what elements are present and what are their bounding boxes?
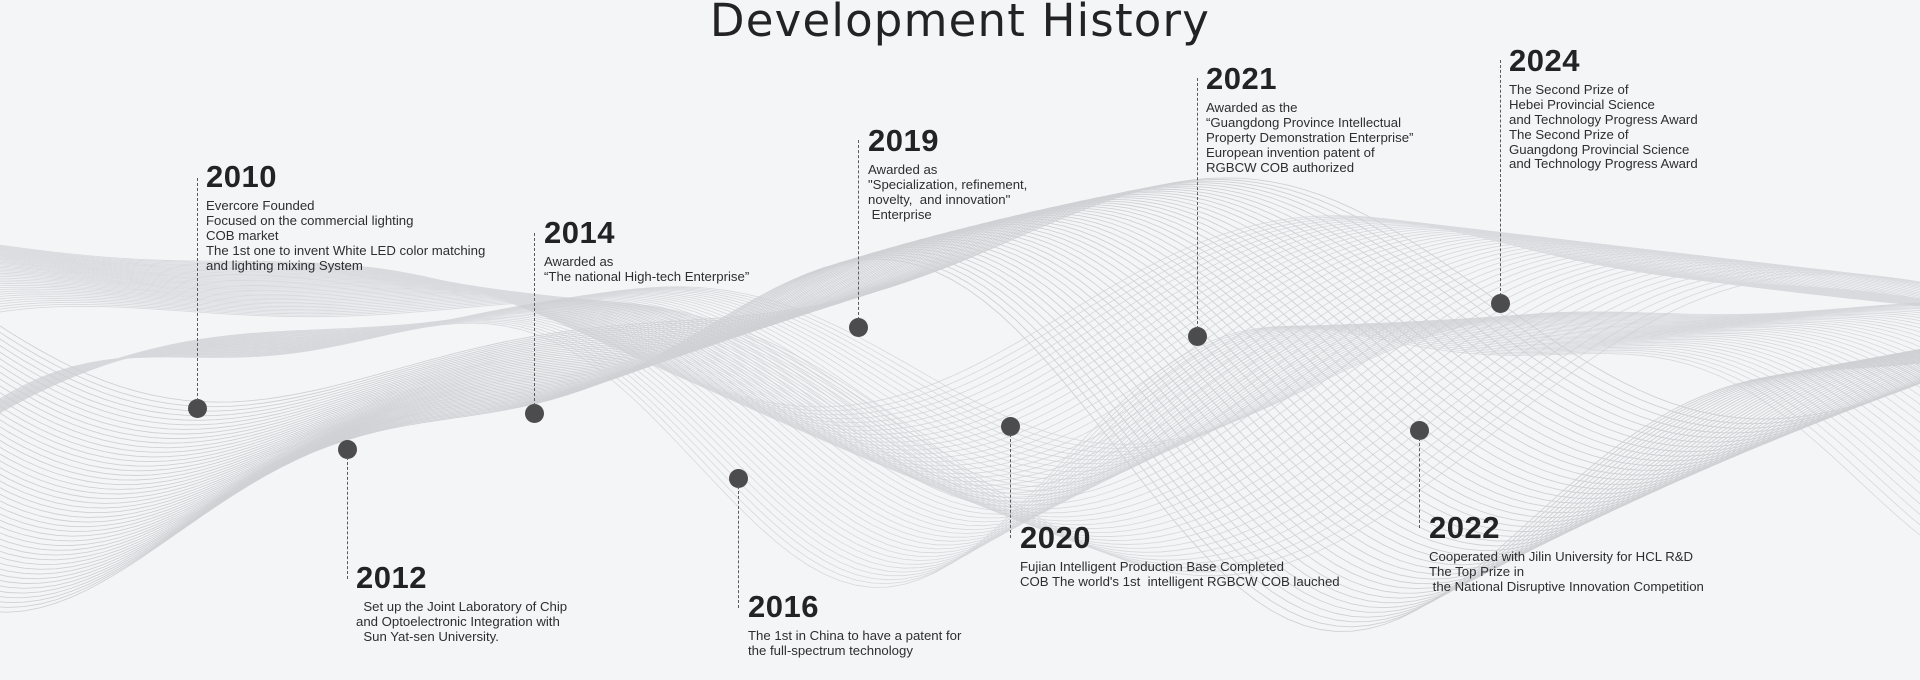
timeline-body-line: and lighting mixing System bbox=[206, 259, 485, 274]
timeline-infographic: Development History 2010 Evercore Founde… bbox=[0, 0, 1920, 680]
timeline-body-line: Enterprise bbox=[868, 208, 1027, 223]
timeline-year-2019: 2019 bbox=[868, 124, 1027, 157]
timeline-dot-2010[interactable] bbox=[188, 399, 207, 418]
timeline-body-line: RGBCW COB authorized bbox=[1206, 161, 1413, 176]
timeline-body-2021: Awarded as the“Guangdong Province Intell… bbox=[1206, 101, 1413, 175]
timeline-body-line: “The national High-tech Enterprise” bbox=[544, 270, 749, 285]
timeline-body-2016: The 1st in China to have a patent forthe… bbox=[748, 629, 961, 659]
timeline-year-2016: 2016 bbox=[748, 590, 961, 623]
timeline-body-line: Hebei Provincial Science bbox=[1509, 98, 1698, 113]
timeline-body-2014: Awarded as“The national High-tech Enterp… bbox=[544, 255, 749, 285]
timeline-body-line: European invention patent of bbox=[1206, 146, 1413, 161]
timeline-card-2019: 2019 Awarded as"Specialization, refineme… bbox=[868, 124, 1027, 223]
timeline-body-line: Cooperated with Jilin University for HCL… bbox=[1429, 550, 1704, 565]
timeline-body-line: The Top Prize in bbox=[1429, 565, 1704, 580]
timeline-card-2020: 2020 Fujian Intelligent Production Base … bbox=[1020, 521, 1340, 590]
timeline-stem-2014 bbox=[534, 233, 535, 406]
timeline-body-2024: The Second Prize ofHebei Provincial Scie… bbox=[1509, 83, 1698, 172]
timeline-year-2010: 2010 bbox=[206, 160, 485, 193]
timeline-body-line: "Specialization, refinement, bbox=[868, 178, 1027, 193]
timeline-body-line: COB The world's 1st intelligent RGBCW CO… bbox=[1020, 575, 1340, 590]
timeline-body-line: Sun Yat-sen University. bbox=[356, 630, 567, 645]
timeline-dot-2021[interactable] bbox=[1188, 327, 1207, 346]
timeline-card-2010: 2010 Evercore FoundedFocused on the comm… bbox=[206, 160, 485, 273]
timeline-stem-2020 bbox=[1010, 434, 1011, 538]
timeline-body-line: Fujian Intelligent Production Base Compl… bbox=[1020, 560, 1340, 575]
page-title: Development History bbox=[0, 0, 1920, 47]
timeline-body-line: the National Disruptive Innovation Compe… bbox=[1429, 580, 1704, 595]
timeline-year-2012: 2012 bbox=[356, 561, 567, 594]
timeline-card-2014: 2014 Awarded as“The national High-tech E… bbox=[544, 216, 749, 285]
timeline-year-2022: 2022 bbox=[1429, 511, 1704, 544]
timeline-body-2020: Fujian Intelligent Production Base Compl… bbox=[1020, 560, 1340, 590]
timeline-body-line: Guangdong Provincial Science bbox=[1509, 143, 1698, 158]
timeline-body-line: and Optoelectronic Integration with bbox=[356, 615, 567, 630]
timeline-stem-2021 bbox=[1197, 78, 1198, 329]
timeline-body-line: The 1st one to invent White LED color ma… bbox=[206, 244, 485, 259]
timeline-card-2022: 2022 Cooperated with Jilin University fo… bbox=[1429, 511, 1704, 595]
timeline-body-2010: Evercore FoundedFocused on the commercia… bbox=[206, 199, 485, 273]
timeline-body-line: The 1st in China to have a patent for bbox=[748, 629, 961, 644]
timeline-body-line: Awarded as the bbox=[1206, 101, 1413, 116]
timeline-body-line: COB market bbox=[206, 229, 485, 244]
timeline-dot-2014[interactable] bbox=[525, 404, 544, 423]
timeline-year-2020: 2020 bbox=[1020, 521, 1340, 554]
timeline-year-2014: 2014 bbox=[544, 216, 749, 249]
timeline-dot-2024[interactable] bbox=[1491, 294, 1510, 313]
timeline-body-line: and Technology Progress Award bbox=[1509, 157, 1698, 172]
timeline-card-2024: 2024 The Second Prize ofHebei Provincial… bbox=[1509, 44, 1698, 172]
timeline-body-line: “Guangdong Province Intellectual bbox=[1206, 116, 1413, 131]
timeline-dot-2019[interactable] bbox=[849, 318, 868, 337]
timeline-year-2024: 2024 bbox=[1509, 44, 1698, 77]
timeline-stem-2019 bbox=[858, 140, 859, 320]
timeline-body-line: Focused on the commercial lighting bbox=[206, 214, 485, 229]
timeline-card-2021: 2021 Awarded as the“Guangdong Province I… bbox=[1206, 62, 1413, 175]
timeline-card-2016: 2016 The 1st in China to have a patent f… bbox=[748, 590, 961, 659]
timeline-body-2012: Set up the Joint Laboratory of Chipand O… bbox=[356, 600, 567, 644]
timeline-body-line: Evercore Founded bbox=[206, 199, 485, 214]
timeline-body-line: and Technology Progress Award bbox=[1509, 113, 1698, 128]
timeline-stem-2016 bbox=[738, 486, 739, 608]
timeline-body-line: Awarded as bbox=[544, 255, 749, 270]
timeline-stem-2024 bbox=[1500, 60, 1501, 296]
timeline-card-2012: 2012 Set up the Joint Laboratory of Chip… bbox=[356, 561, 567, 645]
timeline-body-line: the full-spectrum technology bbox=[748, 644, 961, 659]
timeline-stem-2022 bbox=[1419, 438, 1420, 528]
timeline-body-2022: Cooperated with Jilin University for HCL… bbox=[1429, 550, 1704, 594]
timeline-stem-2012 bbox=[347, 457, 348, 579]
timeline-body-2019: Awarded as"Specialization, refinement,no… bbox=[868, 163, 1027, 222]
timeline-body-line: Property Demonstration Enterprise” bbox=[1206, 131, 1413, 146]
timeline-stem-2010 bbox=[197, 178, 198, 401]
timeline-body-line: Set up the Joint Laboratory of Chip bbox=[356, 600, 567, 615]
timeline-body-line: novelty, and innovation" bbox=[868, 193, 1027, 208]
timeline-body-line: The Second Prize of bbox=[1509, 83, 1698, 98]
timeline-year-2021: 2021 bbox=[1206, 62, 1413, 95]
timeline-body-line: The Second Prize of bbox=[1509, 128, 1698, 143]
timeline-body-line: Awarded as bbox=[868, 163, 1027, 178]
